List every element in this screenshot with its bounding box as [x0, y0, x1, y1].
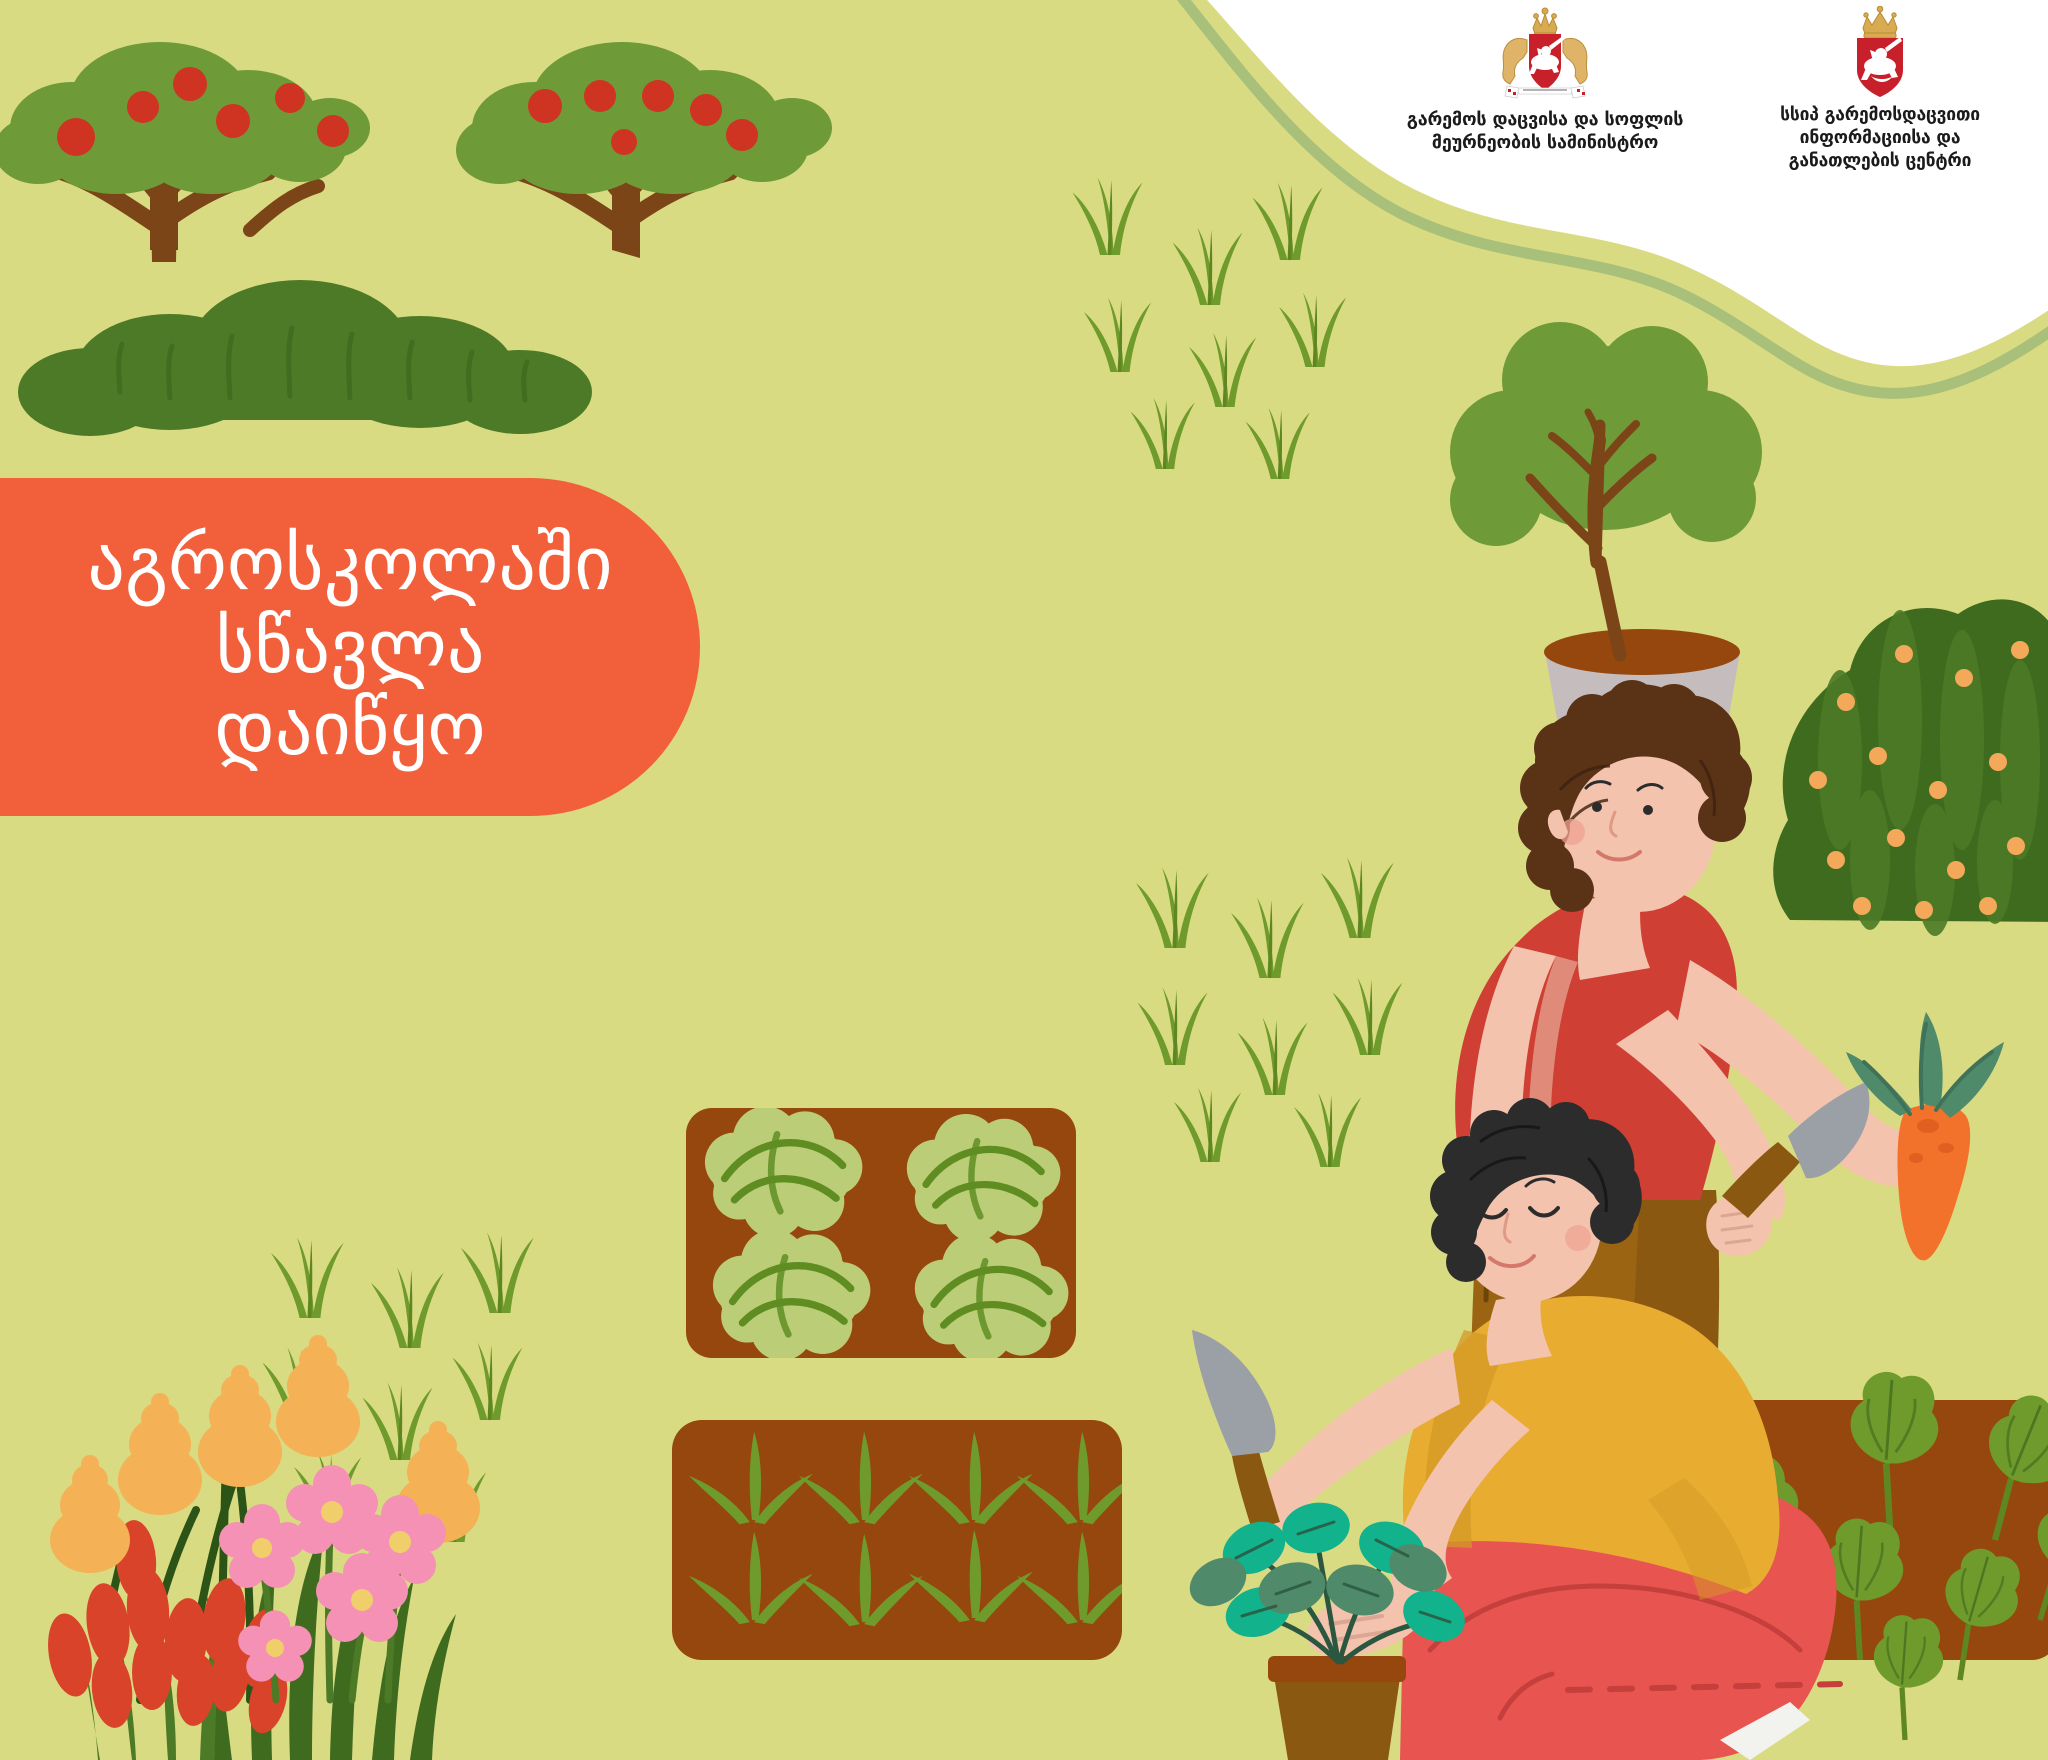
sprout-bed [672, 1420, 1141, 1660]
page-title: აგროსკოლაში სწავლა დაიწყო [47, 523, 612, 772]
logo-ministry: გარემოს დაცვისა და სოფლის მეურნეობის სამ… [1380, 6, 1710, 155]
scene-illustration [0, 0, 2048, 1760]
logo-center: სსიპ გარემოსდაცვითი ინფორმაციისა და განა… [1740, 6, 2020, 172]
title-banner: აგროსკოლაში სწავლა დაიწყო [0, 478, 700, 816]
poster-canvas: აგროსკოლაში სწავლა დაიწყო [0, 0, 2048, 1760]
cabbage-bed [686, 1106, 1076, 1362]
logo-ministry-label: გარემოს დაცვისა და სოფლის მეურნეობის სამ… [1407, 108, 1684, 155]
georgia-coat-of-arms-icon [1493, 6, 1597, 102]
logo-center-label: სსიპ გარემოსდაცვითი ინფორმაციისა და განა… [1780, 104, 1980, 172]
header-logo-row: გარემოს დაცვისა და სოფლის მეურნეობის სამ… [1380, 6, 2040, 176]
georgia-shield-crown-icon [1843, 6, 1917, 98]
